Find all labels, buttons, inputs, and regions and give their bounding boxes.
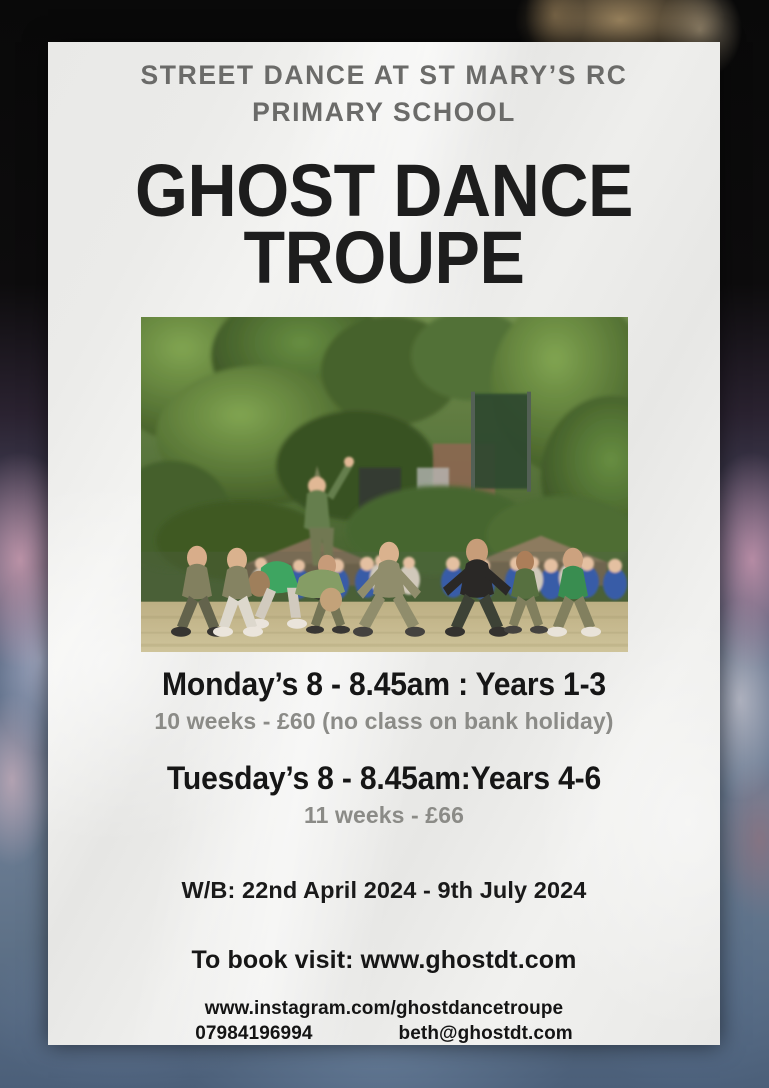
schedule-tuesday-line: Tuesday’s 8 - 8.45am:Years 4-6: [68, 762, 700, 796]
schedule-monday-line: Monday’s 8 - 8.45am : Years 1-3: [68, 668, 700, 702]
schedule-monday-sub: 10 weeks - £60 (no class on bank holiday…: [48, 707, 720, 736]
schedule-tuesday: Tuesday’s 8 - 8.45am:Years 4-6 11 weeks …: [48, 762, 720, 830]
contact-row: 07984196994 beth@ghostdt.com: [48, 1023, 720, 1045]
phone-number[interactable]: 07984196994: [195, 1023, 312, 1045]
poster-root: STREET DANCE AT ST MARY’S RC PRIMARY SCH…: [0, 0, 769, 1088]
email-address[interactable]: beth@ghostdt.com: [399, 1023, 573, 1045]
poster-card: STREET DANCE AT ST MARY’S RC PRIMARY SCH…: [48, 42, 720, 1045]
title-line-2: TROUPE: [75, 225, 693, 292]
contact-block: www.instagram.com/ghostdancetroupe 07984…: [48, 998, 720, 1045]
booking-line: To book visit: www.ghostdt.com: [48, 946, 720, 975]
page-title: GHOST DANCE TROUPE: [75, 158, 693, 291]
title-line-1: GHOST DANCE: [75, 158, 693, 225]
schedule-tuesday-sub: 11 weeks - £66: [48, 801, 720, 830]
schedule-monday: Monday’s 8 - 8.45am : Years 1-3 10 weeks…: [48, 668, 720, 736]
poster-kicker: STREET DANCE AT ST MARY’S RC PRIMARY SCH…: [48, 57, 720, 130]
term-dates: W/B: 22nd April 2024 - 9th July 2024: [48, 877, 720, 904]
instagram-link[interactable]: www.instagram.com/ghostdancetroupe: [48, 998, 720, 1020]
dance-photo: [141, 317, 628, 651]
